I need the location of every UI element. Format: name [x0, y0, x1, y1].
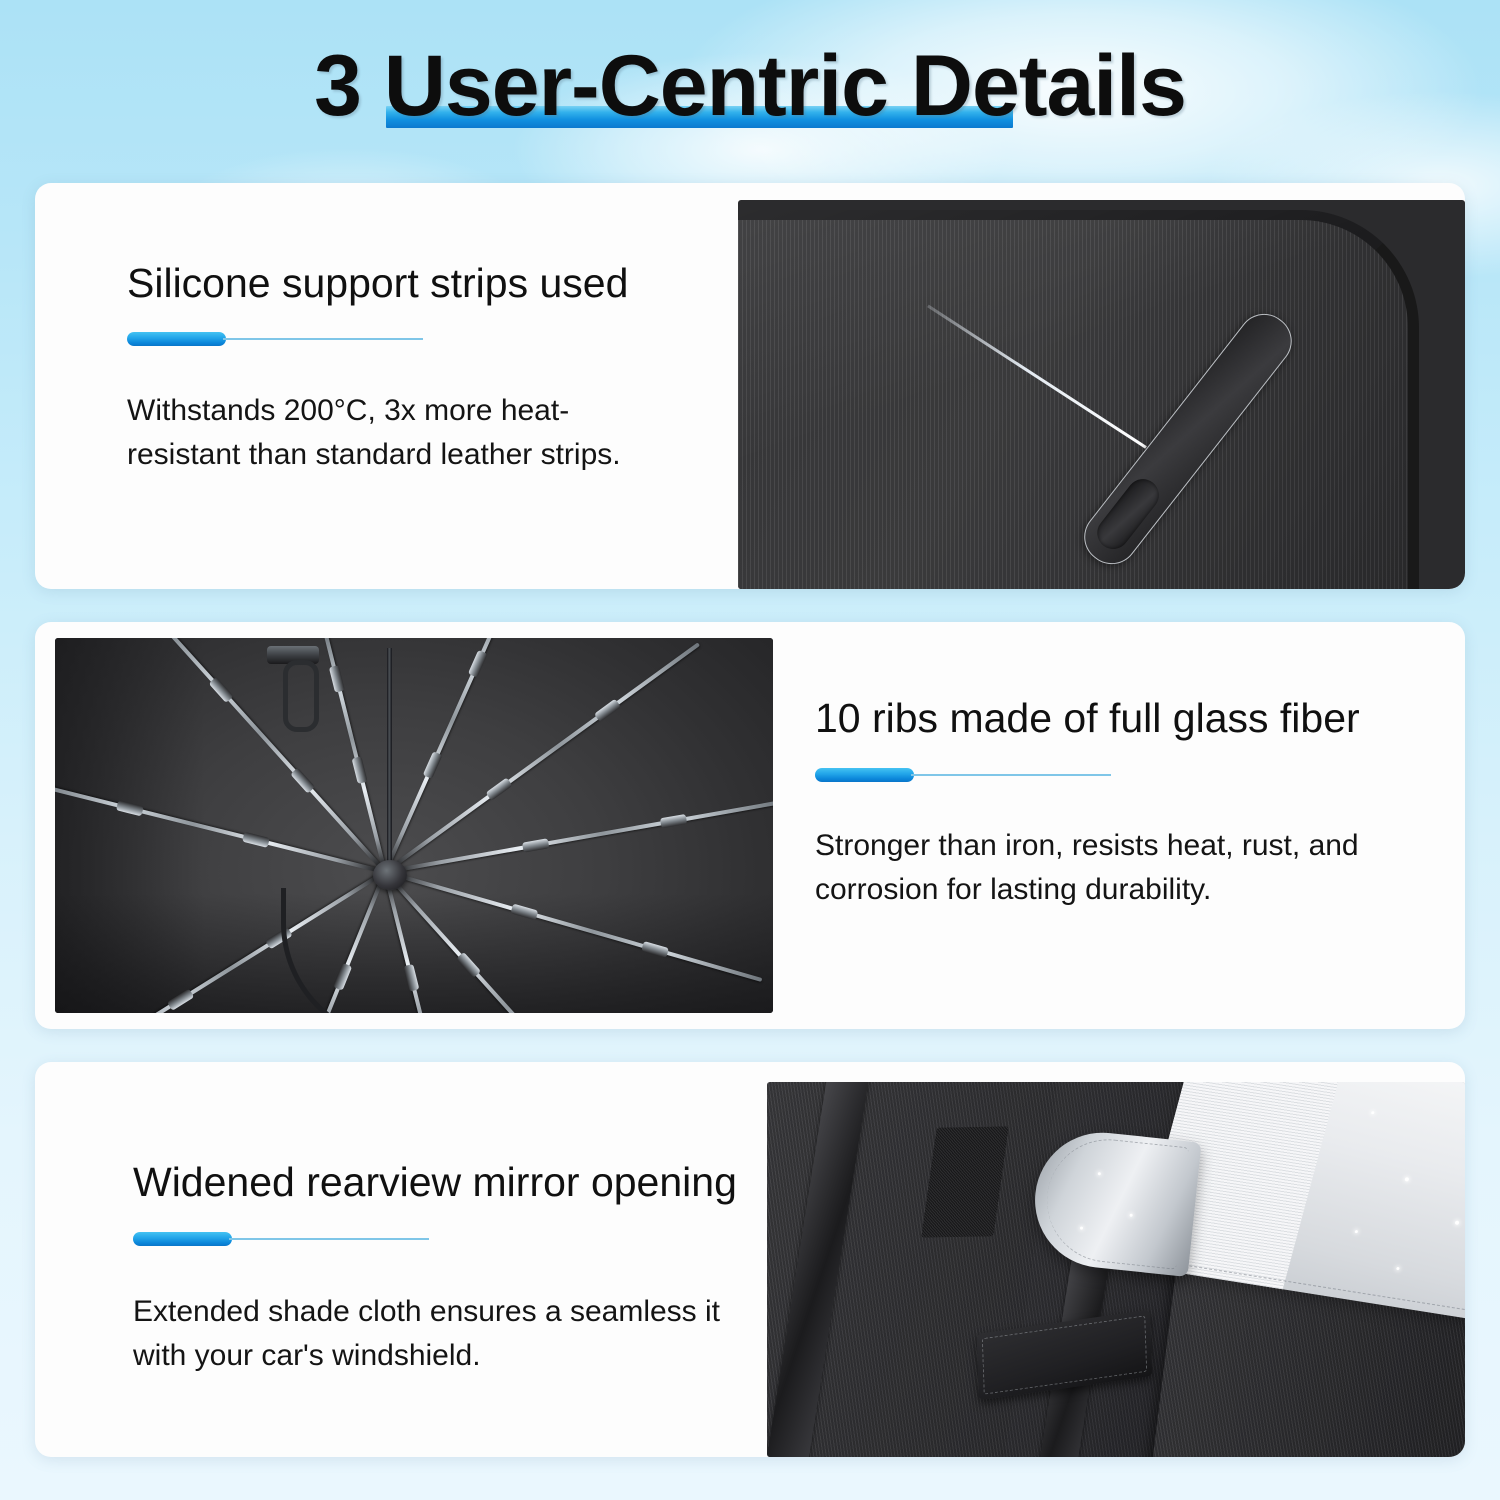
feature-text-1: Silicone support strips used Withstands …: [127, 183, 747, 589]
feature-headline-3: Widened rearview mirror opening: [133, 1158, 737, 1206]
feature-body-3: Extended shade cloth ensures a seamless …: [133, 1290, 753, 1378]
title-inner: 3 User-Centric Details: [314, 34, 1186, 138]
accent-divider-1: [127, 332, 423, 346]
page-title-container: 3 User-Centric Details: [0, 34, 1500, 154]
feature-image-3: [767, 1082, 1465, 1457]
umbrella-hub: [373, 860, 407, 890]
sparkle-dot: [1098, 1172, 1101, 1175]
sparkle-dot: [1354, 1230, 1358, 1233]
feature-body-2: Stronger than iron, resists heat, rust, …: [815, 824, 1455, 912]
divider-thin-segment: [911, 774, 1111, 776]
accent-divider-2: [815, 768, 1111, 782]
feature-card-1: Silicone support strips used Withstands …: [35, 183, 1465, 589]
feature-card-3: Widened rearview mirror opening Extended…: [35, 1062, 1465, 1457]
accent-divider-3: [133, 1232, 429, 1246]
feature-image-1: [738, 200, 1465, 589]
sparkle-dot: [1371, 1111, 1375, 1114]
divider-thick-segment: [815, 768, 914, 782]
infographic-poster: 3 User-Centric Details Silicone support …: [0, 0, 1500, 1500]
umbrella-shaft: [387, 648, 392, 870]
feature-card-2: 10 ribs made of full glass fiber Stronge…: [35, 622, 1465, 1029]
sparkle-dot: [1404, 1177, 1409, 1182]
feature-image-2: [55, 638, 773, 1013]
divider-thin-segment: [229, 1238, 429, 1240]
feature-headline-2: 10 ribs made of full glass fiber: [815, 694, 1360, 742]
divider-thick-segment: [127, 332, 226, 346]
divider-thick-segment: [133, 1232, 232, 1246]
page-title: 3 User-Centric Details: [314, 34, 1186, 138]
umbrella-strap-loop: [283, 660, 319, 732]
sunshade-panel-texture: [738, 210, 1419, 589]
sparkle-dot: [1130, 1214, 1133, 1217]
feature-text-3: Widened rearview mirror opening Extended…: [133, 1062, 813, 1457]
sparkle-dot: [1455, 1220, 1460, 1225]
feature-text-2: 10 ribs made of full glass fiber Stronge…: [815, 622, 1465, 1029]
sparkle-dot: [1080, 1226, 1083, 1229]
feature-body-1: Withstands 200°C, 3x more heat-resistant…: [127, 389, 647, 477]
divider-thin-segment: [223, 338, 423, 340]
sparkle-dot: [1396, 1267, 1400, 1270]
feature-headline-1: Silicone support strips used: [127, 259, 628, 307]
